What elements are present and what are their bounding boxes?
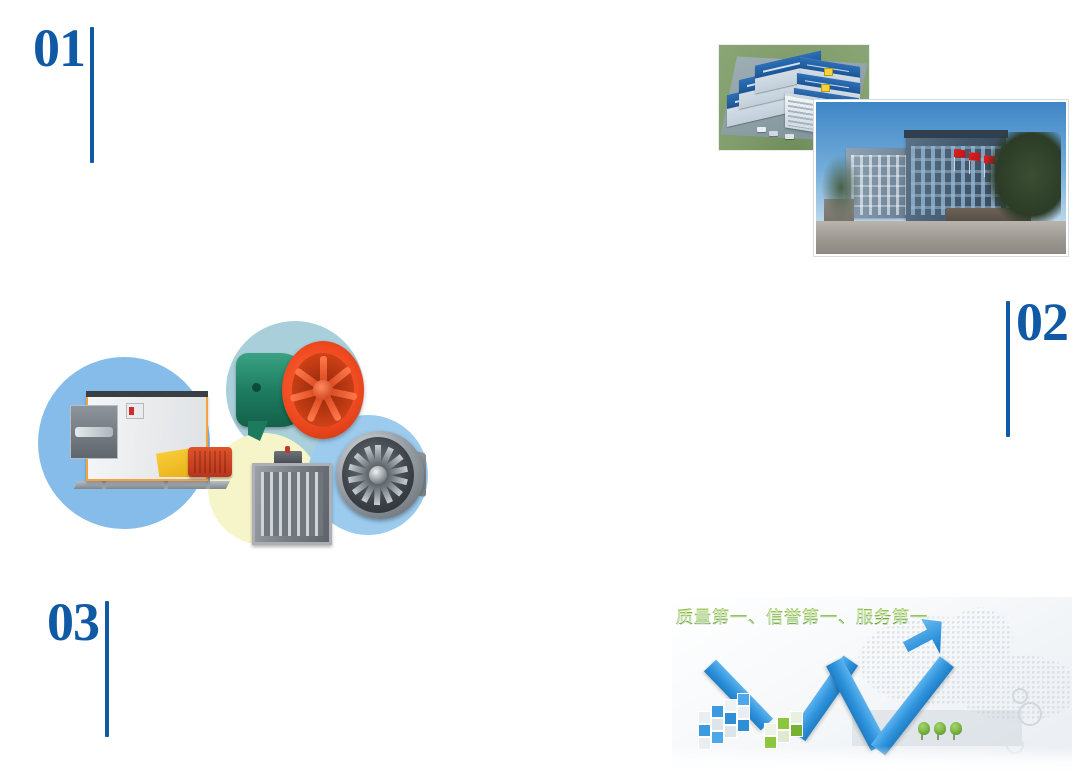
green-cube-cluster — [764, 709, 802, 747]
arrow-segment — [871, 656, 954, 755]
cube-unit — [711, 705, 724, 718]
aerial-marker-box — [824, 68, 833, 76]
control-panel — [126, 403, 144, 419]
cube-unit — [790, 724, 803, 737]
cube-unit — [698, 711, 711, 724]
courtyard-ground — [816, 221, 1066, 254]
cube-unit — [737, 706, 750, 719]
cube-unit — [724, 712, 737, 725]
section-marker-03: 03 — [47, 596, 109, 737]
reflection-fade — [672, 746, 1072, 772]
product-metal-impeller-fan — [328, 427, 432, 523]
electric-motor — [188, 447, 232, 477]
red-flag-icon — [954, 149, 966, 158]
office-building-image — [814, 100, 1068, 256]
section-rule-03 — [105, 601, 109, 737]
company-slogan: 质量第一、信誉第一、服务第一 — [676, 603, 928, 628]
red-flag-icon — [969, 152, 981, 161]
cube-unit — [764, 723, 777, 736]
aerial-vehicle — [769, 131, 778, 136]
cube-unit — [724, 725, 737, 738]
cube-unit — [711, 731, 724, 744]
damper-frame — [252, 463, 332, 545]
section-rule-02 — [1006, 301, 1010, 437]
section-marker-01: 01 — [33, 22, 94, 163]
section-number-01: 01 — [33, 22, 85, 74]
cube-unit — [737, 693, 750, 706]
tree-icon — [934, 722, 946, 740]
fan-red-shroud — [282, 341, 364, 439]
cube-unit — [777, 730, 790, 743]
aerial-vehicle — [785, 134, 794, 139]
fan-inlet-opening — [70, 405, 118, 459]
impeller-nose-cone — [369, 466, 387, 484]
blue-cube-cluster — [698, 687, 760, 749]
product-cabinet-centrifugal-fan — [68, 395, 228, 505]
tree — [821, 154, 861, 221]
cube-unit — [711, 718, 724, 731]
product-fire-damper — [248, 451, 330, 543]
cube-unit — [737, 719, 750, 732]
section-rule-01 — [90, 27, 94, 163]
section-number-02: 02 — [1016, 296, 1068, 348]
growth-arrow-banner: 质量第一、信誉第一、服务第一 — [672, 597, 1072, 772]
aerial-vehicle — [757, 127, 766, 132]
cube-unit — [790, 711, 803, 724]
cube-unit — [777, 717, 790, 730]
tree-icon — [918, 722, 930, 740]
section-marker-02: 02 — [1006, 296, 1068, 437]
bubble-circle — [1018, 702, 1042, 726]
fan-hub — [313, 380, 333, 400]
aerial-marker-box — [821, 84, 830, 92]
section-number-03: 03 — [47, 596, 99, 648]
fan-impeller — [342, 437, 414, 513]
mounting-bracket — [248, 421, 268, 441]
tree-icon — [950, 722, 962, 740]
page-canvas: 01 02 03 — [0, 0, 1074, 772]
product-collage — [30, 315, 430, 555]
cube-unit — [698, 724, 711, 737]
tree — [986, 132, 1061, 226]
cube-unit — [724, 699, 737, 712]
